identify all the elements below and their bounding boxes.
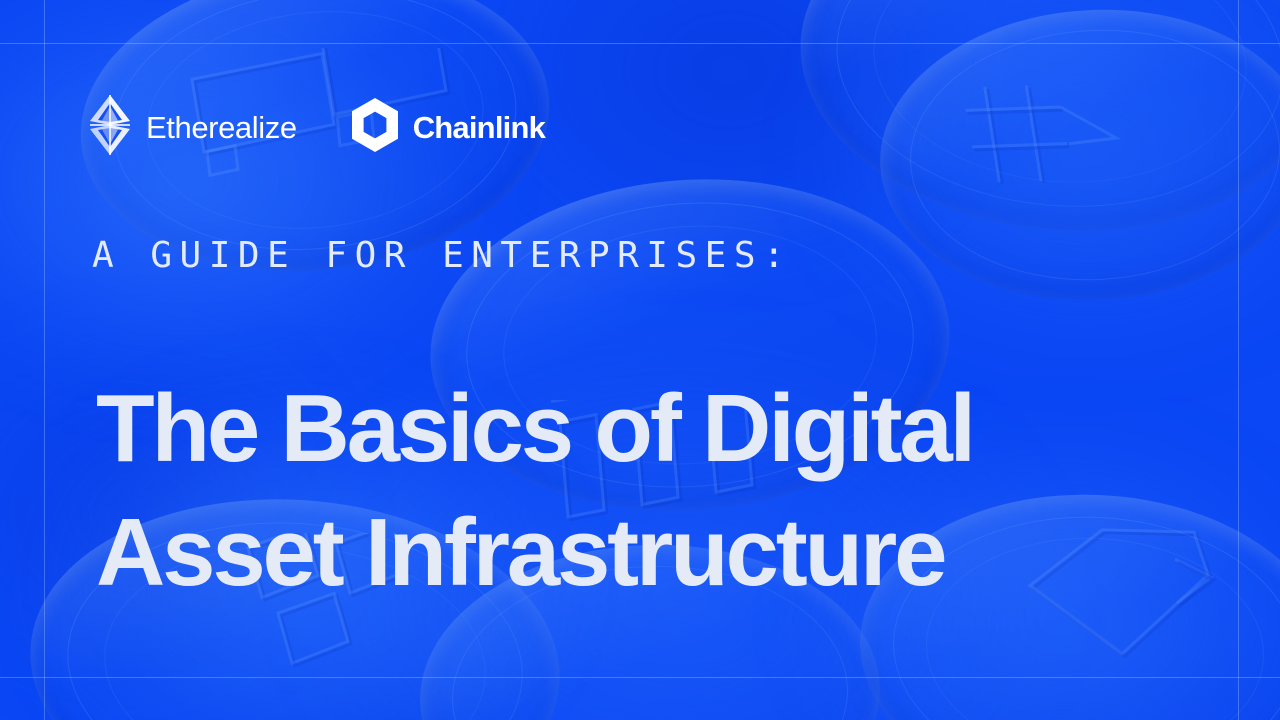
page-title-line-1: The Basics of Digital	[96, 367, 973, 491]
chainlink-hexagon-icon	[351, 98, 399, 157]
report-cover: Etherealize Chainlink A GUIDE FOR ENTERP…	[0, 0, 1280, 720]
etherealize-wordmark: Etherealize	[146, 112, 297, 143]
etherealize-logo-lockup: Etherealize	[88, 94, 297, 161]
chainlink-logo-lockup: Chainlink	[351, 98, 545, 157]
page-title-line-2: Asset Infrastructure	[96, 491, 973, 615]
cover-eyebrow: A GUIDE FOR ENTERPRISES:	[92, 238, 792, 274]
etherealize-diamond-icon	[88, 94, 132, 161]
cover-content: Etherealize Chainlink A GUIDE FOR ENTERP…	[0, 0, 1280, 720]
page-title: The Basics of Digital Asset Infrastructu…	[96, 367, 973, 615]
chainlink-wordmark: Chainlink	[413, 112, 545, 143]
brand-logo-row: Etherealize Chainlink	[88, 94, 545, 161]
